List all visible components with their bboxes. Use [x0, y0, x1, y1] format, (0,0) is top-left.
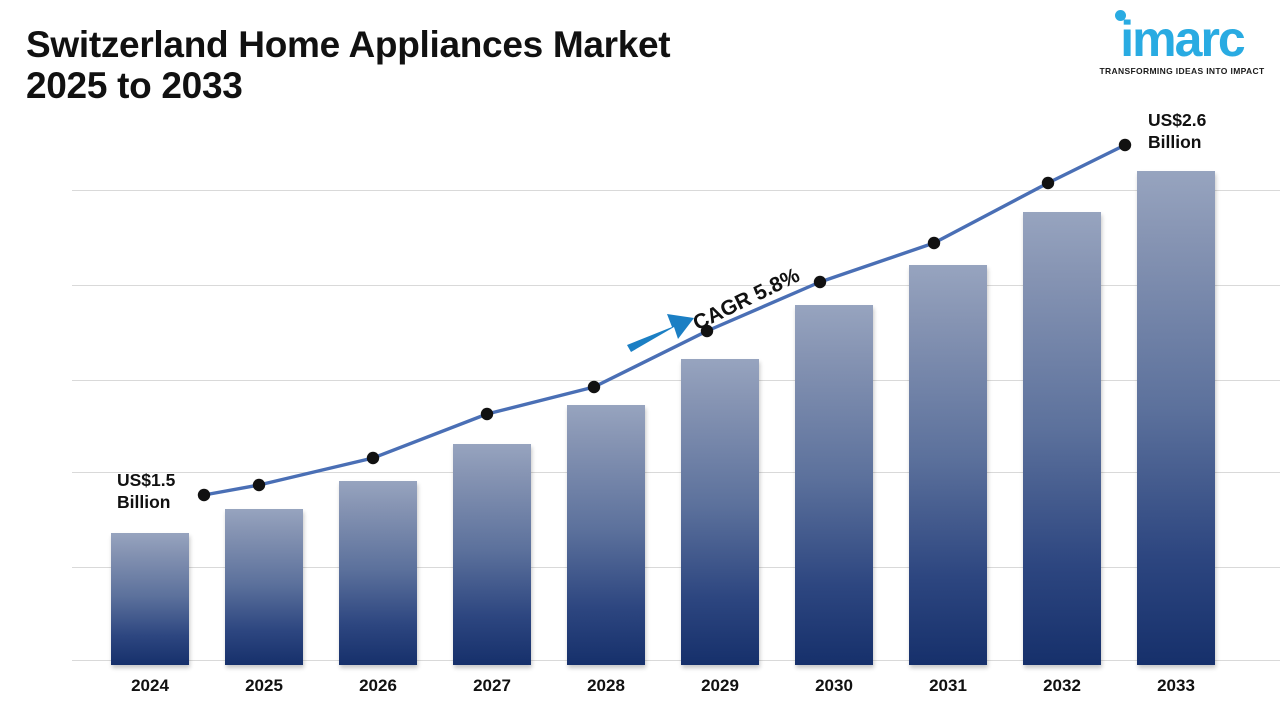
data-point-2030 — [814, 276, 826, 288]
start-value-line-2: Billion — [117, 492, 175, 514]
trend-line — [204, 145, 1125, 495]
end-value-line-2: Billion — [1148, 132, 1206, 154]
cagr-arrow-icon — [627, 314, 694, 352]
start-value-callout: US$1.5 Billion — [117, 470, 175, 514]
end-value-callout: US$2.6 Billion — [1148, 110, 1206, 154]
chart-page: Switzerland Home Appliances Market 2025 … — [0, 0, 1280, 720]
start-value-line-1: US$1.5 — [117, 470, 175, 492]
data-point-2027 — [481, 408, 493, 420]
data-point-2028 — [588, 381, 600, 393]
data-point-2026 — [367, 452, 379, 464]
end-value-line-1: US$2.6 — [1148, 110, 1206, 132]
data-point-2024 — [198, 489, 210, 501]
data-point-2025 — [253, 479, 265, 491]
data-point-2031 — [928, 237, 940, 249]
trend-line-overlay — [0, 0, 1280, 720]
data-point-2032 — [1042, 177, 1054, 189]
data-point-2033 — [1119, 139, 1131, 151]
